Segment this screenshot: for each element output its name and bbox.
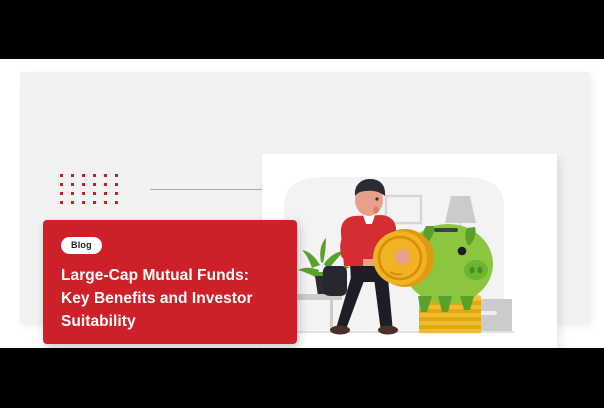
- man-bag: [323, 266, 347, 296]
- illustration-card: [262, 154, 557, 365]
- dot: [93, 192, 96, 195]
- dot: [93, 183, 96, 186]
- man-with-coin-and-piggy-bank-illustration: [262, 154, 557, 365]
- dot: [60, 192, 63, 195]
- piggy-coin-slot: [434, 228, 458, 232]
- dot: [104, 174, 107, 177]
- letterbox-bottom: [0, 348, 604, 408]
- piggy-eye: [458, 247, 467, 256]
- dot: [104, 183, 107, 186]
- dot: [71, 174, 74, 177]
- dot: [82, 192, 85, 195]
- dot: [71, 201, 74, 204]
- dot: [60, 201, 63, 204]
- dot: [115, 201, 118, 204]
- man-mouth: [373, 206, 379, 213]
- dot: [104, 201, 107, 204]
- blog-headline-card[interactable]: Blog Large-Cap Mutual Funds: Key Benefit…: [43, 220, 297, 344]
- page-title: Large-Cap Mutual Funds: Key Benefits and…: [61, 265, 279, 333]
- blog-badge: Blog: [61, 237, 102, 254]
- man-shoe-front: [378, 326, 398, 335]
- dot: [82, 201, 85, 204]
- dot: [82, 183, 85, 186]
- dot: [60, 183, 63, 186]
- dot: [93, 174, 96, 177]
- page-canvas: Blog Large-Cap Mutual Funds: Key Benefit…: [0, 59, 604, 348]
- dot: [82, 174, 85, 177]
- dot: [60, 174, 63, 177]
- letterbox-top: [0, 0, 604, 59]
- screenshot-stage: Blog Large-Cap Mutual Funds: Key Benefit…: [0, 0, 604, 408]
- horizontal-rule-decoration: [150, 189, 263, 190]
- dot: [104, 192, 107, 195]
- dot: [71, 183, 74, 186]
- piggy-snout: [464, 260, 488, 280]
- man-shoe-back: [330, 326, 350, 335]
- dot: [93, 201, 96, 204]
- dot-grid-decoration: [60, 174, 126, 210]
- man-eye: [375, 197, 378, 200]
- man-hand-left: [363, 259, 374, 266]
- dot: [115, 183, 118, 186]
- dot: [115, 174, 118, 177]
- dot: [71, 192, 74, 195]
- dot: [115, 192, 118, 195]
